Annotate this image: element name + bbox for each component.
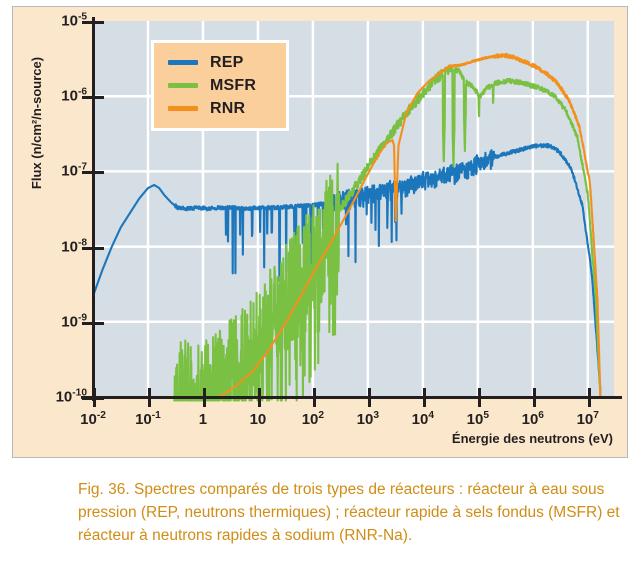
x-axis-line	[81, 396, 622, 399]
legend-swatch-msfr	[168, 83, 198, 88]
legend-swatch-rnr	[168, 106, 198, 111]
x-tick-5	[368, 388, 371, 407]
y-axis-title: Flux (n/cm²/n-source)	[29, 23, 44, 223]
x-tick-4	[313, 388, 316, 407]
x-tick-label-5: 103	[357, 411, 379, 428]
x-tick-7	[478, 388, 481, 407]
chart-legend: REP MSFR RNR	[151, 40, 289, 131]
series-line-rep	[93, 144, 600, 390]
x-tick-label-9: 107	[577, 411, 599, 428]
x-tick-6	[423, 388, 426, 407]
y-tick-label-4: 10-9	[61, 313, 87, 330]
x-tick-label-7: 105	[467, 411, 489, 428]
legend-label-rnr: RNR	[210, 100, 245, 118]
x-tick-1	[148, 388, 151, 407]
figure-caption: Fig. 36. Spectres comparés de trois type…	[78, 478, 628, 547]
y-tick-label-1: 10-6	[61, 88, 87, 105]
x-tick-label-6: 104	[412, 411, 434, 428]
x-tick-label-3: 10	[250, 411, 267, 428]
legend-item-rnr: RNR	[168, 97, 256, 120]
y-tick-label-0: 10-5	[61, 13, 87, 30]
legend-item-msfr: MSFR	[168, 74, 256, 97]
legend-label-msfr: MSFR	[210, 77, 256, 95]
x-tick-9	[588, 388, 591, 407]
y-tick-label-2: 10-7	[61, 163, 87, 180]
y-axis-line	[92, 17, 95, 401]
figure-root: Flux (n/cm²/n-source) 10-510-610-710-810…	[0, 0, 640, 576]
x-tick-2	[203, 388, 206, 407]
legend-swatch-rep	[168, 60, 198, 65]
x-tick-label-1: 10-1	[135, 411, 161, 428]
y-tick-label-5: 10-10	[56, 389, 87, 406]
x-tick-8	[533, 388, 536, 407]
legend-item-rep: REP	[168, 51, 256, 74]
x-tick-0	[93, 388, 96, 407]
x-tick-label-8: 106	[522, 411, 544, 428]
x-axis-title: Énergie des neutrons (eV)	[452, 431, 613, 446]
legend-label-rep: REP	[210, 54, 244, 72]
x-tick-label-4: 102	[302, 411, 324, 428]
y-tick-label-3: 10-8	[61, 238, 87, 255]
x-tick-label-2: 1	[199, 411, 207, 428]
x-tick-label-0: 10-2	[80, 411, 106, 428]
chart-panel: Flux (n/cm²/n-source) 10-510-610-710-810…	[12, 6, 628, 458]
x-tick-3	[258, 388, 261, 407]
